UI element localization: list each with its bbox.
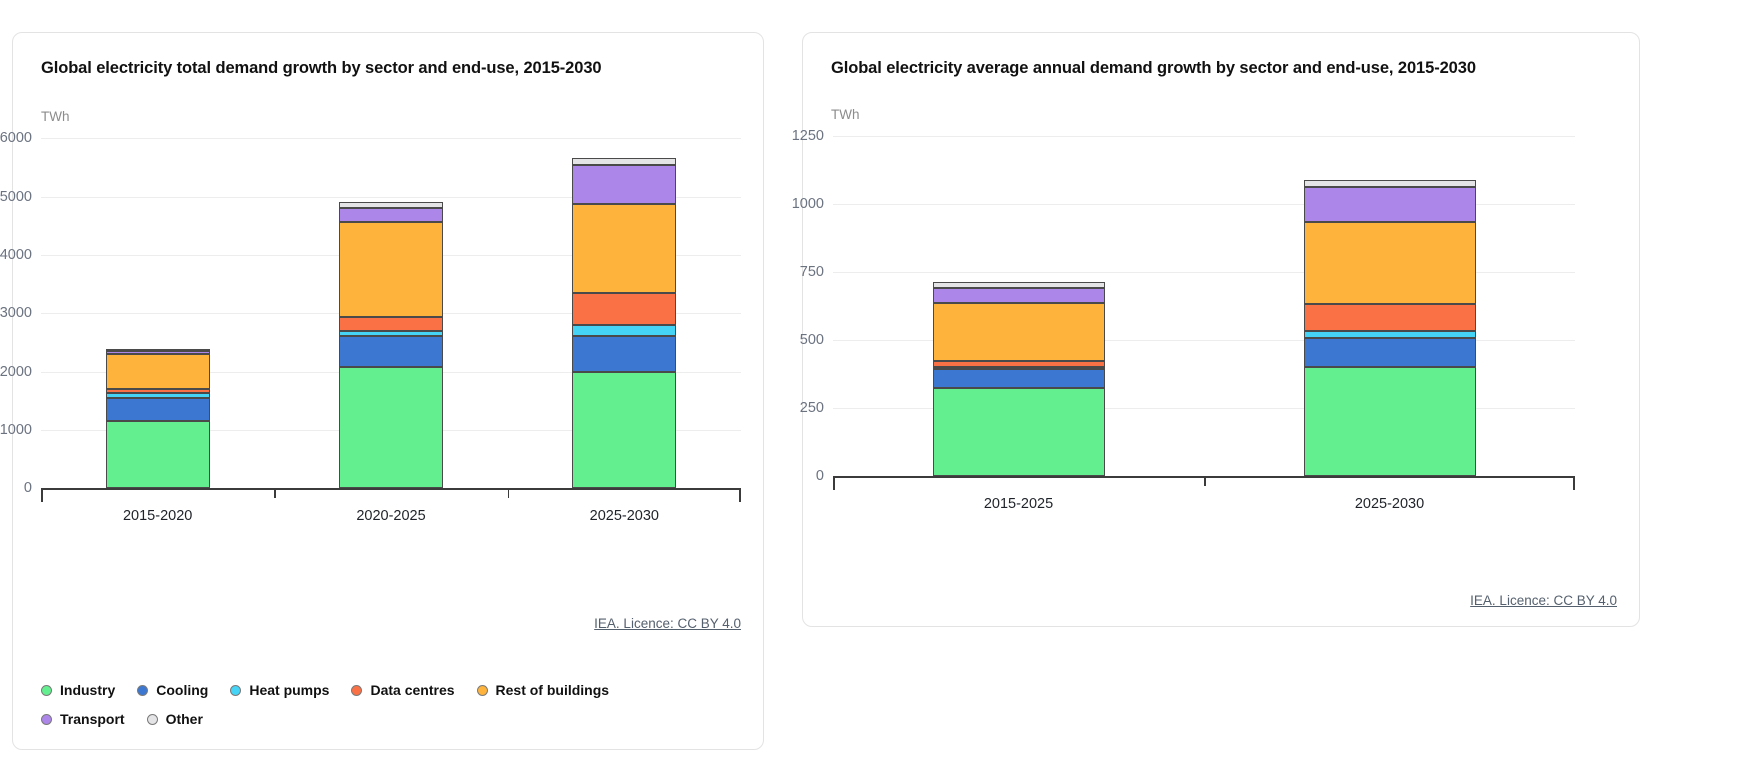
bar-segment-industry[interactable] [1304,367,1476,476]
x-axis-label: 2015-2025 [984,496,1053,512]
left-licence-link[interactable]: IEA. Licence: CC BY 4.0 [594,616,741,631]
charts-page: Global electricity total demand growth b… [0,0,1763,782]
bar-segment-rest-of-buildings[interactable] [572,204,676,294]
x-axis-label: 2025-2030 [590,508,659,524]
y-axis-tick-label: 6000 [0,130,32,146]
legend-item-industry[interactable]: Industry [41,682,115,698]
y-axis-tick-label: 1000 [0,422,32,438]
y-axis-tick-label: 2000 [0,364,32,380]
bar-segment-industry[interactable] [572,372,676,489]
legend-item-label: Transport [60,711,125,727]
bar-segment-rest-of-buildings[interactable] [1304,222,1476,304]
bar-segment-data-centres[interactable] [339,317,443,332]
stacked-bar[interactable] [106,138,210,488]
legend-swatch-icon [477,685,488,696]
bar-segment-cooling[interactable] [572,336,676,372]
x-axis-tick [833,476,835,490]
bar-segment-heat-pumps[interactable] [339,331,443,336]
left-chart-title: Global electricity total demand growth b… [13,33,763,79]
bar-segment-heat-pumps[interactable] [1304,331,1476,338]
right-y-axis-unit: TWh [803,107,1639,122]
x-axis-label: 2020-2025 [356,508,425,524]
y-axis-tick-label: 1250 [792,128,824,144]
y-axis-tick-label: 5000 [0,189,32,205]
right-chart-title: Global electricity average annual demand… [803,33,1639,79]
legend-item-heat-pumps[interactable]: Heat pumps [230,682,329,698]
legend-swatch-icon [137,685,148,696]
bar-segment-other[interactable] [572,158,676,164]
bar-segment-other[interactable] [339,202,443,208]
legend-item-transport[interactable]: Transport [41,711,125,727]
legend-swatch-icon [41,714,52,725]
x-axis-tick [1204,476,1206,486]
x-axis-tick [41,488,43,502]
x-axis-tick [1573,476,1575,490]
legend-item-rest-of-buildings[interactable]: Rest of buildings [477,682,610,698]
bar-segment-heat-pumps[interactable] [933,367,1105,369]
y-axis-tick-label: 3000 [0,305,32,321]
legend-item-label: Cooling [156,682,208,698]
y-axis-tick-label: 750 [800,264,824,280]
y-axis-tick-label: 0 [816,468,824,484]
bar-segment-data-centres[interactable] [1304,304,1476,331]
stacked-bar[interactable] [339,138,443,488]
bar-segment-heat-pumps[interactable] [106,393,210,398]
bar-segment-cooling[interactable] [1304,338,1476,368]
legend-item-cooling[interactable]: Cooling [137,682,208,698]
x-axis-tick [508,488,510,498]
legend-swatch-icon [230,685,241,696]
y-axis-tick-label: 1000 [792,196,824,212]
bar-segment-data-centres[interactable] [106,389,210,393]
x-axis-tick [274,488,276,498]
bar-segment-rest-of-buildings[interactable] [106,354,210,389]
bar-segment-rest-of-buildings[interactable] [933,303,1105,361]
stacked-bar[interactable] [1304,136,1476,476]
bar-segment-heat-pumps[interactable] [572,325,676,336]
x-axis-label: 2025-2030 [1355,496,1424,512]
bar-segment-transport[interactable] [572,165,676,204]
bar-segment-other[interactable] [933,282,1105,288]
legend-swatch-icon [41,685,52,696]
bar-segment-transport[interactable] [339,208,443,223]
right-plot-area: 025050075010001250 2015-20252025-2030 [833,136,1575,476]
right-bars [833,136,1575,476]
total-demand-growth-card: Global electricity total demand growth b… [12,32,764,750]
legend-item-label: Other [166,711,203,727]
bar-segment-other[interactable] [1304,180,1476,187]
bar-segment-industry[interactable] [339,367,443,488]
legend-swatch-icon [147,714,158,725]
x-axis-label: 2015-2020 [123,508,192,524]
bar-segment-cooling[interactable] [339,336,443,367]
right-licence-link[interactable]: IEA. Licence: CC BY 4.0 [1470,593,1617,608]
legend-item-data-centres[interactable]: Data centres [351,682,454,698]
y-axis-tick-label: 0 [24,480,32,496]
bar-segment-industry[interactable] [106,421,210,488]
left-plot-area: 0100020003000400050006000 2015-20202020-… [41,138,741,488]
y-axis-tick-label: 500 [800,332,824,348]
legend-item-label: Industry [60,682,115,698]
legend-swatch-icon [351,685,362,696]
x-axis-line [41,488,741,490]
bar-segment-data-centres[interactable] [572,293,676,325]
chart-legend: IndustryCoolingHeat pumpsData centresRes… [41,682,731,727]
stacked-bar[interactable] [572,138,676,488]
bar-segment-cooling[interactable] [933,369,1105,388]
bar-segment-transport[interactable] [933,288,1105,303]
bar-segment-data-centres[interactable] [933,361,1105,366]
bar-segment-transport[interactable] [1304,187,1476,222]
bar-segment-industry[interactable] [933,388,1105,476]
y-axis-tick-label: 4000 [0,247,32,263]
legend-item-other[interactable]: Other [147,711,203,727]
legend-item-label: Rest of buildings [496,682,610,698]
left-bars [41,138,741,488]
bar-segment-cooling[interactable] [106,398,210,421]
left-y-axis-unit: TWh [13,109,763,124]
y-axis-tick-label: 250 [800,400,824,416]
legend-item-label: Data centres [370,682,454,698]
legend-item-label: Heat pumps [249,682,329,698]
bar-segment-transport[interactable] [106,351,210,354]
x-axis-tick [739,488,741,502]
average-annual-demand-growth-card: Global electricity average annual demand… [802,32,1640,627]
bar-segment-rest-of-buildings[interactable] [339,222,443,317]
bar-segment-other[interactable] [106,349,210,351]
stacked-bar[interactable] [933,136,1105,476]
